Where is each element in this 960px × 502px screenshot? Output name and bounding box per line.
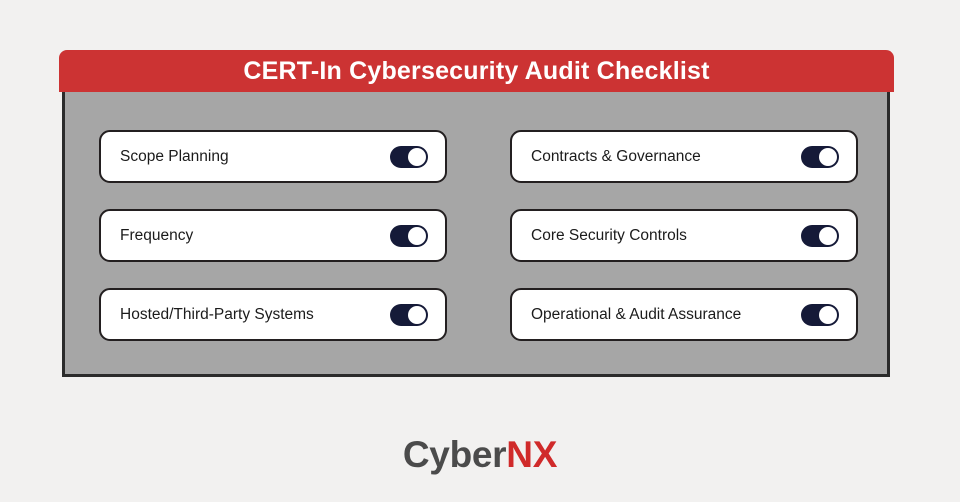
toggle-knob-icon bbox=[408, 306, 426, 324]
toggle-switch-scope-planning[interactable] bbox=[390, 146, 428, 168]
checklist-item-operational-audit-assurance[interactable]: Operational & Audit Assurance bbox=[510, 288, 858, 341]
toggle-knob-icon bbox=[819, 306, 837, 324]
checklist-item-frequency[interactable]: Frequency bbox=[99, 209, 447, 262]
toggle-switch-operational-audit-assurance[interactable] bbox=[801, 304, 839, 326]
toggle-knob-icon bbox=[408, 227, 426, 245]
toggle-switch-core-security-controls[interactable] bbox=[801, 225, 839, 247]
checklist-item-contracts-governance[interactable]: Contracts & Governance bbox=[510, 130, 858, 183]
checklist-item-label: Operational & Audit Assurance bbox=[531, 307, 741, 323]
page-root: CERT-In Cybersecurity Audit Checklist Sc… bbox=[0, 0, 960, 502]
toggle-knob-icon bbox=[819, 148, 837, 166]
toggle-knob-icon bbox=[408, 148, 426, 166]
toggle-switch-frequency[interactable] bbox=[390, 225, 428, 247]
toggle-switch-contracts-governance[interactable] bbox=[801, 146, 839, 168]
checklist-panel: CERT-In Cybersecurity Audit Checklist Sc… bbox=[62, 50, 890, 377]
checklist-item-label: Frequency bbox=[120, 228, 193, 244]
checklist-item-hosted-third-party-systems[interactable]: Hosted/Third-Party Systems bbox=[99, 288, 447, 341]
brand-logo-accent: NX bbox=[506, 434, 557, 475]
page-title: CERT-In Cybersecurity Audit Checklist bbox=[243, 59, 709, 84]
checklist-item-label: Core Security Controls bbox=[531, 228, 687, 244]
checklist-item-label: Contracts & Governance bbox=[531, 149, 701, 165]
checklist-item-label: Hosted/Third-Party Systems bbox=[120, 307, 314, 323]
panel-body: Scope Planning Contracts & Governance Fr… bbox=[62, 92, 890, 377]
checklist-grid: Scope Planning Contracts & Governance Fr… bbox=[99, 130, 853, 341]
checklist-item-label: Scope Planning bbox=[120, 149, 229, 165]
brand-logo-primary: Cyber bbox=[403, 434, 506, 475]
panel-header: CERT-In Cybersecurity Audit Checklist bbox=[59, 50, 894, 92]
brand-logo: CyberNX bbox=[0, 436, 960, 473]
toggle-knob-icon bbox=[819, 227, 837, 245]
checklist-item-core-security-controls[interactable]: Core Security Controls bbox=[510, 209, 858, 262]
toggle-switch-hosted-third-party-systems[interactable] bbox=[390, 304, 428, 326]
checklist-item-scope-planning[interactable]: Scope Planning bbox=[99, 130, 447, 183]
